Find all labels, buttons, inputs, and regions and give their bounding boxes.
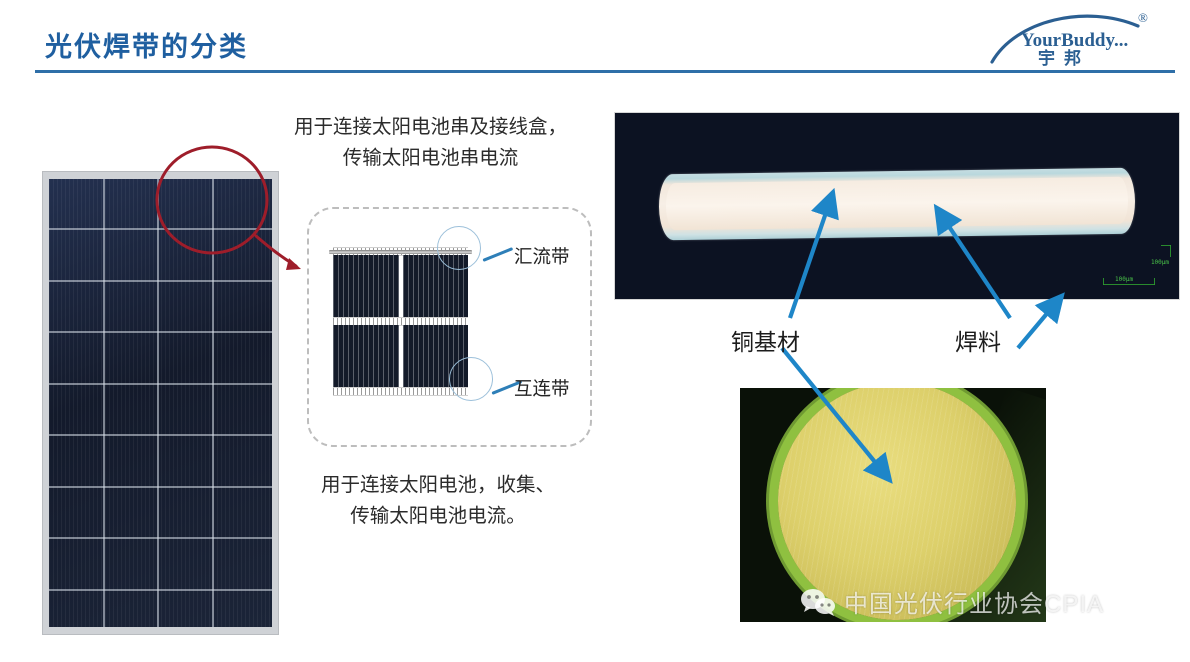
finger-strip-bottom bbox=[333, 387, 468, 396]
svg-text:®: ® bbox=[1138, 10, 1148, 25]
wechat-icon bbox=[800, 588, 836, 616]
scale-label-1: 100μm bbox=[1151, 259, 1169, 266]
label-solder: 焊料 bbox=[955, 323, 1001, 357]
watermark-text: 中国光伏行业协会CPIA bbox=[844, 584, 1104, 619]
copper-core-region bbox=[666, 177, 1129, 230]
caption-top-line1: 用于连接太阳电池串及接线盒， bbox=[258, 112, 603, 143]
busbar-highlight-circle bbox=[437, 226, 481, 270]
caption-bottom: 用于连接太阳电池，收集、 传输太阳电池电流。 bbox=[288, 470, 588, 532]
caption-top: 用于连接太阳电池串及接线盒， 传输太阳电池串电流 bbox=[258, 112, 603, 174]
panel-cell-grid bbox=[49, 179, 272, 627]
ribbon-cross-section bbox=[659, 168, 1136, 241]
flat-ribbon-micrograph: 100μm 100μm bbox=[614, 112, 1180, 300]
cell-string-diagram: 汇流带 互连带 bbox=[307, 207, 592, 447]
interconnect-highlight-circle bbox=[449, 357, 493, 401]
scale-label-2: 100μm bbox=[1115, 276, 1133, 283]
scale-bar-overlay: 100μm 100μm bbox=[1099, 245, 1171, 291]
label-interconnect: 互连带 bbox=[514, 375, 570, 401]
solar-cell bbox=[333, 255, 399, 321]
svg-text:YourBuddy...: YourBuddy... bbox=[1021, 30, 1128, 51]
solar-cell bbox=[333, 325, 399, 391]
caption-top-line2: 传输太阳电池串电流 bbox=[258, 143, 603, 174]
solar-module-photo bbox=[42, 171, 279, 635]
label-busbar: 汇流带 bbox=[514, 243, 570, 269]
label-copper-substrate: 铜基材 bbox=[731, 323, 800, 357]
slide-root: 光伏焊带的分类 ® YourBuddy... 宇邦 bbox=[0, 0, 1190, 662]
title-divider bbox=[35, 70, 1175, 73]
busbar-leader-line bbox=[482, 247, 513, 262]
cpia-watermark: 中国光伏行业协会CPIA bbox=[800, 584, 1104, 619]
caption-bottom-line1: 用于连接太阳电池，收集、 bbox=[288, 470, 588, 501]
cell-row-bottom bbox=[333, 325, 468, 391]
page-title: 光伏焊带的分类 bbox=[45, 25, 248, 64]
caption-bottom-line2: 传输太阳电池电流。 bbox=[288, 501, 588, 532]
brand-logo: ® YourBuddy... 宇邦 bbox=[986, 6, 1176, 68]
svg-text:宇邦: 宇邦 bbox=[1038, 48, 1090, 68]
